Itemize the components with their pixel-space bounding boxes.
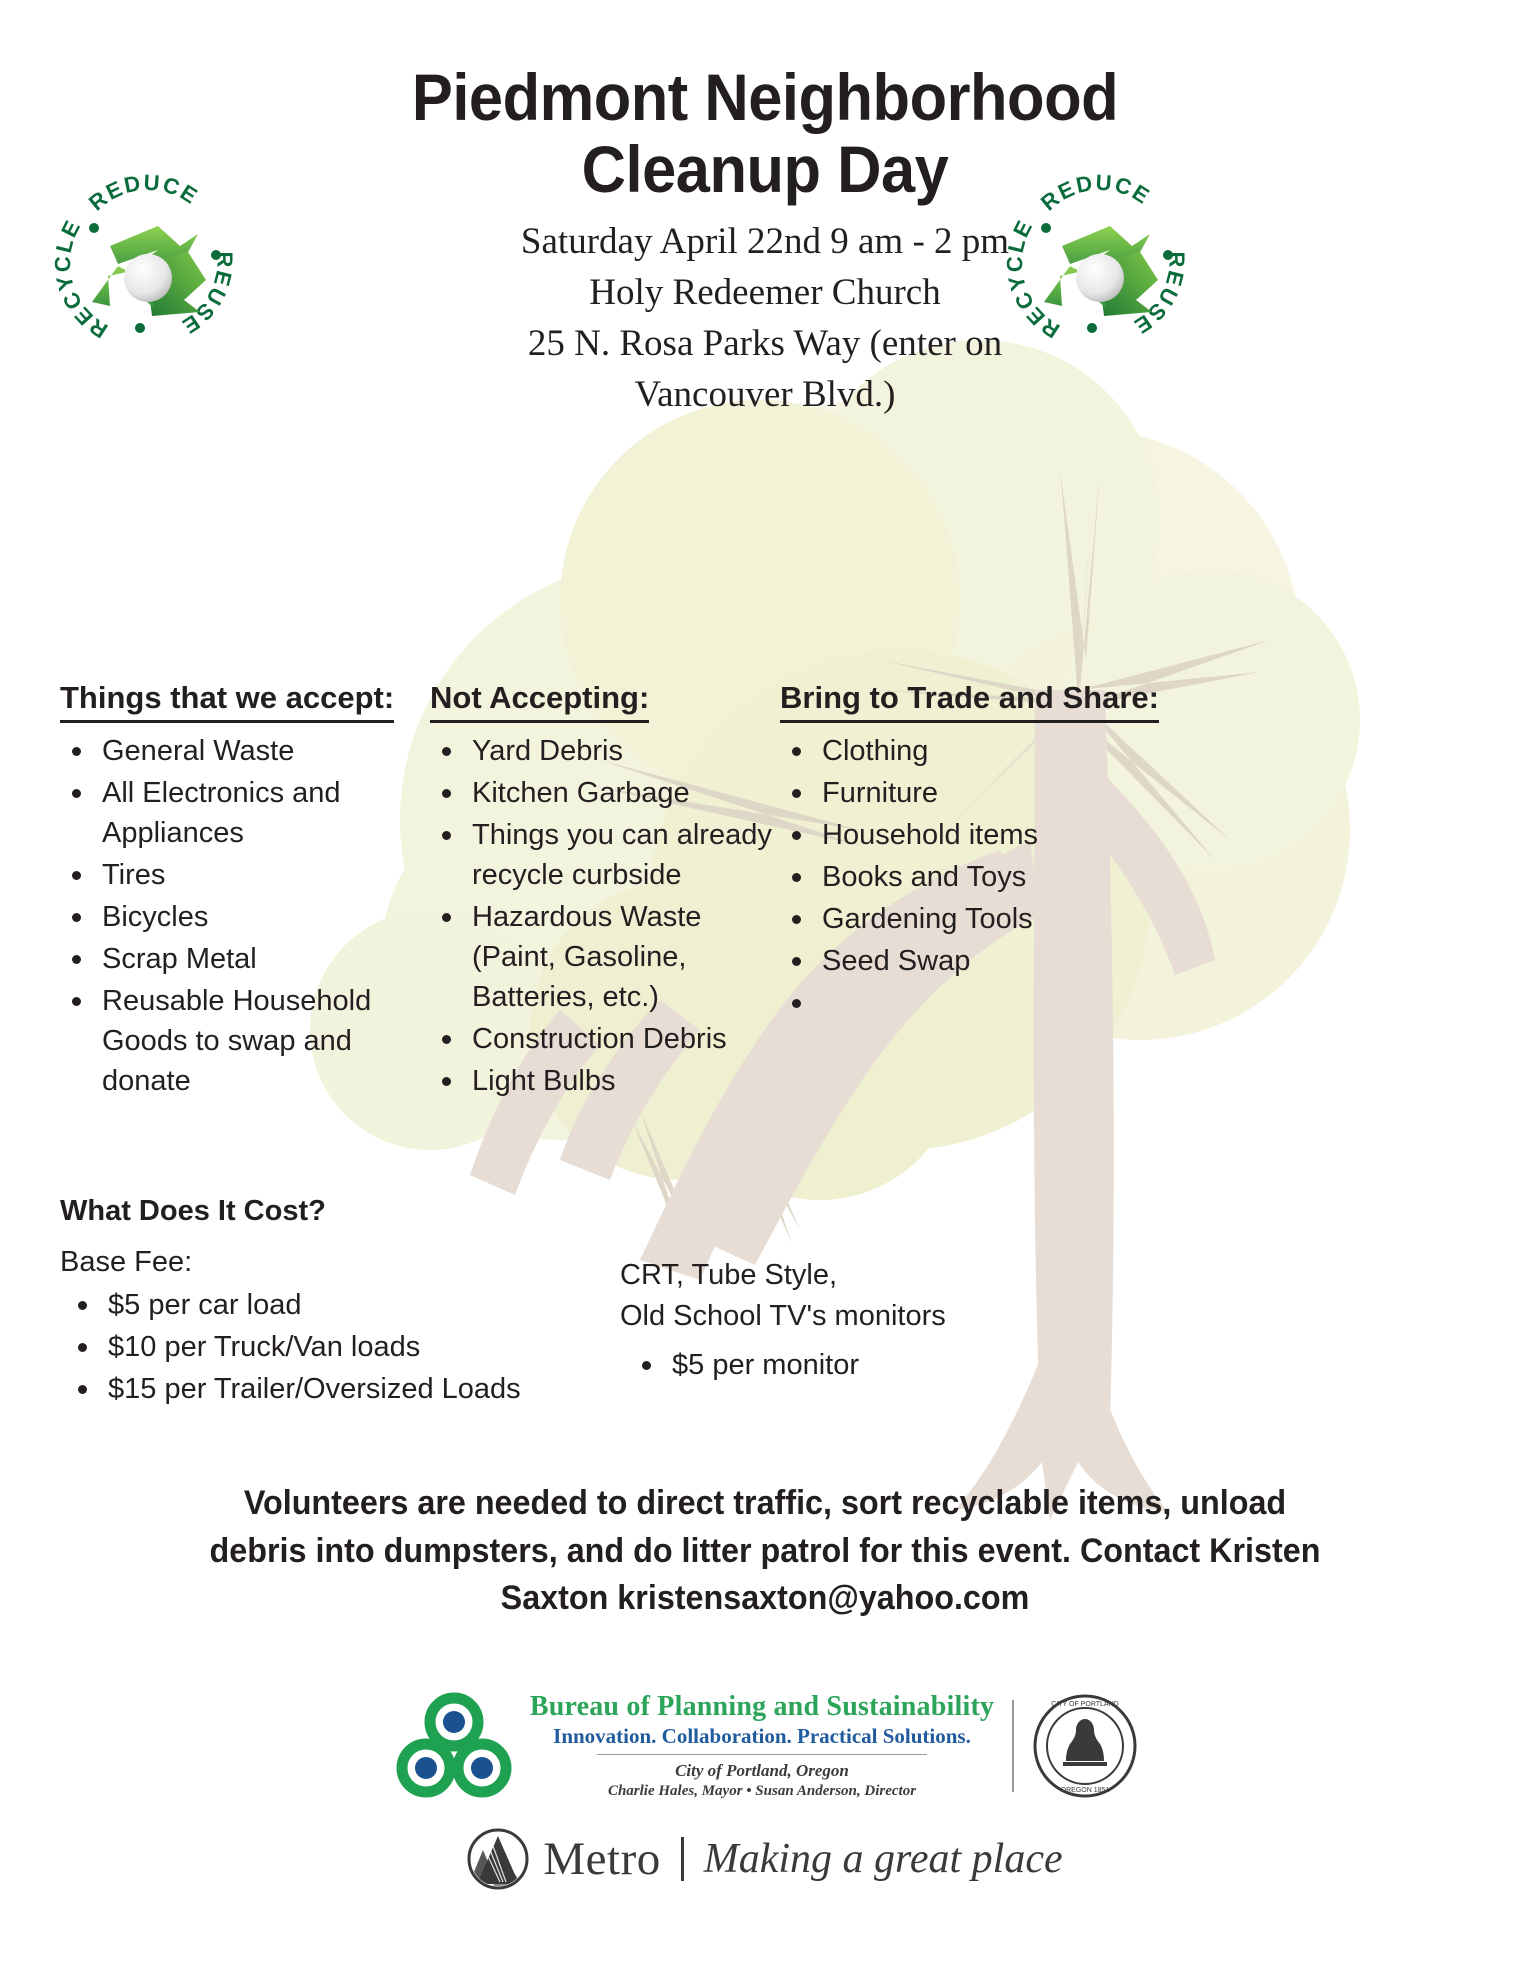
list-item	[780, 983, 1250, 1023]
list-item: Furniture	[780, 773, 1250, 813]
recycle-dot	[1087, 323, 1097, 333]
svg-text:CITY OF PORTLAND: CITY OF PORTLAND	[1051, 1701, 1118, 1708]
recycle-center-sphere	[1076, 254, 1124, 302]
list-item: Hazardous Waste (Paint, Gasoline, Batter…	[430, 897, 780, 1017]
volunteer-line-1: Volunteers are needed to direct traffic,…	[91, 1480, 1440, 1528]
list-item: Tires	[60, 855, 430, 895]
svg-text:RECYCLE: RECYCLE	[50, 215, 112, 343]
recycle-dot	[1163, 250, 1173, 260]
portland-city-seal-icon: CITY OF PORTLAND OREGON 1851	[1032, 1693, 1138, 1799]
title-line-1: Piedmont Neighborhood	[412, 60, 1118, 134]
monitor-fee-section: CRT, Tube Style, Old School TV's monitor…	[620, 1255, 1100, 1387]
bps-officials: Charlie Hales, Mayor • Susan Anderson, D…	[530, 1782, 994, 1801]
monitor-fee-list: $5 per monitor	[620, 1345, 1100, 1385]
bps-logo-row: Bureau of Planning and Sustainability In…	[0, 1690, 1530, 1802]
volunteer-line-2: debris into dumpsters, and do litter pat…	[91, 1528, 1440, 1576]
list-item: Bicycles	[60, 897, 430, 937]
metro-wordmark: Metro	[543, 1832, 660, 1886]
list-item: Construction Debris	[430, 1019, 780, 1059]
metro-tagline: Making a great place	[704, 1835, 1063, 1883]
bps-text-block: Bureau of Planning and Sustainability In…	[530, 1692, 994, 1801]
cost-section: What Does It Cost? Base Fee: $5 per car …	[60, 1195, 660, 1411]
bps-tagline: Innovation. Collaboration. Practical Sol…	[530, 1725, 994, 1748]
base-fee-label: Base Fee:	[60, 1246, 660, 1279]
title-line-2: Cleanup Day	[582, 132, 949, 206]
not-accepting-list: Yard Debris Kitchen Garbage Things you c…	[430, 731, 780, 1101]
column-not-accepting: Not Accepting: Yard Debris Kitchen Garba…	[430, 680, 780, 1103]
not-accepting-heading: Not Accepting:	[430, 680, 649, 723]
list-item: General Waste	[60, 731, 430, 771]
svg-text:REDUCE: REDUCE	[1036, 170, 1155, 216]
list-item: $10 per Truck/Van loads	[60, 1327, 660, 1367]
metro-logo-row: Metro Making a great place	[0, 1828, 1530, 1890]
base-fee-list: $5 per car load $10 per Truck/Van loads …	[60, 1285, 660, 1409]
recycle-dot	[1041, 223, 1051, 233]
recycle-logo-right: REDUCE REUSE RECYCLE	[1000, 160, 1200, 360]
list-item: Seed Swap	[780, 941, 1250, 981]
event-address-line-2: Vancouver Blvd.)	[330, 369, 1200, 420]
cost-heading: What Does It Cost?	[60, 1195, 660, 1228]
list-item: Reusable Household Goods to swap and don…	[60, 981, 430, 1101]
item-columns: Things that we accept: General Waste All…	[0, 680, 1530, 1103]
bps-city: City of Portland, Oregon	[530, 1760, 994, 1781]
column-trade-share: Bring to Trade and Share: Clothing Furni…	[780, 680, 1250, 1025]
svg-text:OREGON 1851: OREGON 1851	[1061, 1787, 1110, 1794]
volunteer-callout: Volunteers are needed to direct traffic,…	[91, 1480, 1440, 1623]
list-item: Yard Debris	[430, 731, 780, 771]
accepted-list: General Waste All Electronics and Applia…	[60, 731, 430, 1101]
list-item: Gardening Tools	[780, 899, 1250, 939]
metro-mountain-icon	[467, 1828, 529, 1890]
list-item: $5 per car load	[60, 1285, 660, 1325]
accepted-heading: Things that we accept:	[60, 680, 394, 723]
list-item: All Electronics and Appliances	[60, 773, 430, 853]
recycle-dot	[135, 323, 145, 333]
recycle-center-sphere	[124, 254, 172, 302]
metro-divider	[681, 1837, 684, 1881]
list-item: $5 per monitor	[620, 1345, 1100, 1385]
list-item: Light Bulbs	[430, 1061, 780, 1101]
recycle-dot	[89, 223, 99, 233]
list-item: Things you can already recycle curbside	[430, 815, 780, 895]
list-item: Clothing	[780, 731, 1250, 771]
list-item: Scrap Metal	[60, 939, 430, 979]
svg-text:RECYCLE: RECYCLE	[1002, 215, 1064, 343]
sponsor-footer: Bureau of Planning and Sustainability In…	[0, 1690, 1530, 1890]
trade-share-list: Clothing Furniture Household items Books…	[780, 731, 1250, 1023]
list-item: Books and Toys	[780, 857, 1250, 897]
list-item: $15 per Trailer/Oversized Loads	[60, 1369, 660, 1409]
recycle-dot	[211, 250, 221, 260]
volunteer-line-3: Saxton kristensaxton@yahoo.com	[91, 1575, 1440, 1623]
list-item: Household items	[780, 815, 1250, 855]
page-title: Piedmont Neighborhood Cleanup Day	[54, 0, 1477, 206]
list-item: Kitchen Garbage	[430, 773, 780, 813]
monitor-desc-line-1: CRT, Tube Style,	[620, 1255, 1100, 1296]
column-accepted: Things that we accept: General Waste All…	[0, 680, 430, 1103]
bps-trefoil-icon	[392, 1690, 516, 1802]
recycle-logo-left: REDUCE REUSE RECYCLE	[48, 160, 248, 360]
footer-vertical-divider	[1012, 1700, 1014, 1792]
trade-share-heading: Bring to Trade and Share:	[780, 680, 1159, 723]
bps-divider	[597, 1754, 927, 1755]
monitor-desc-line-2: Old School TV's monitors	[620, 1296, 1100, 1337]
svg-text:REDUCE: REDUCE	[84, 170, 203, 216]
bps-title: Bureau of Planning and Sustainability	[530, 1692, 994, 1723]
